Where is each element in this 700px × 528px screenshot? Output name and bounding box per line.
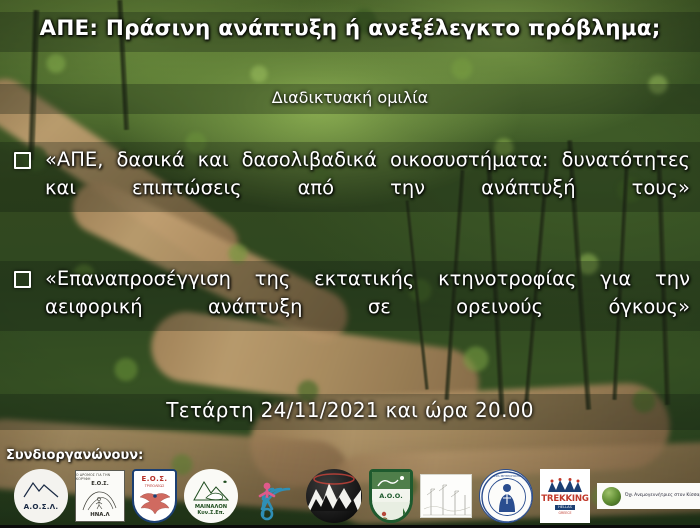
coorganizer-logo-strip: Α.Ο.Σ.Λ. Ο ΔΡΟΜΟΣ ΓΙΑ ΤΗΝ ΚΟΡΥΦΗ Ε.Ο.Σ. … <box>0 466 700 526</box>
poster-subtitle: Διαδικτυακή ομιλία <box>0 88 700 107</box>
coorganizers-label: Συνδιοργανώνουν: <box>6 448 143 463</box>
logo-kissavos-banner: Όχι Ανεμογεννήτριες στον Κίσσαβο <box>597 483 700 509</box>
logo-eos-inal: Ο ΔΡΟΜΟΣ ΓΙΑ ΤΗΝ ΚΟΡΥΦΗ Ε.Ο.Σ. ΗΝΑ.Λ <box>75 470 125 522</box>
event-datetime: Τετάρτη 24/11/2021 και ώρα 20.00 <box>0 398 700 422</box>
logo-trekking-title: TREKKING <box>541 494 589 504</box>
svg-text:ΙΕΡΑ ΜΗΤΡΟΠΟΛΙΣ: ΙΕΡΑ ΜΗΤΡΟΠΟΛΙΣ <box>493 474 521 478</box>
logo-aoo-shield: Α.Ο.Ο. <box>369 469 413 523</box>
logo-trekking: TREKKING HELLAS GREECE <box>540 469 590 523</box>
logo-mainalon: ΜΑΙΝΑΛΟΝ Κυν.Σ.Επ. <box>184 469 238 523</box>
logo-trekking-sub: GREECE <box>559 511 572 515</box>
bullet-item: «ΑΠΕ, δασικά και δασολιβαδικά οικοσυστήμ… <box>8 146 690 229</box>
bullet-item-label: «ΑΠΕ, δασικά και δασολιβαδικά οικοσυστήμ… <box>45 146 690 229</box>
mountain-bird-icon <box>192 478 230 502</box>
logo-arcs <box>245 469 299 523</box>
hollow-square-bullet-icon <box>14 152 31 169</box>
poster-content: ΑΠΕ: Πράσινη ανάπτυξη ή ανεξέλεγκτο πρόβ… <box>0 0 700 528</box>
trekking-crest-icon <box>546 478 584 493</box>
climber-sketch-icon <box>80 488 120 512</box>
page-title: ΑΠΕ: Πράσινη ανάπτυξη ή ανεξέλεγκτο πρόβ… <box>0 16 700 41</box>
line-drawing-icon <box>421 475 472 518</box>
logo-mainalon-sub: Κυν.Σ.Επ. <box>197 510 224 516</box>
logo-sketch-panel <box>420 474 472 518</box>
logo-blue-seal: ΙΕΡΑ ΜΗΤΡΟΠΟΛΙΣ <box>479 469 533 523</box>
logo-aosl: Α.Ο.Σ.Λ. <box>14 469 68 523</box>
logo-eos-shield: Ε.Ο.Σ. ΤΡΙΠΟΛΕΩΣ <box>132 469 177 523</box>
logo-aoo-label: Α.Ο.Ο. <box>379 492 403 500</box>
logo-eos-inal-bottom: ΗΝΑ.Λ <box>90 512 109 518</box>
logo-eos-inal-mid: Ε.Ο.Σ. <box>91 481 108 487</box>
logo-dark-globe <box>306 469 362 523</box>
poster-root: ΑΠΕ: Πράσινη ανάπτυξη ή ανεξέλεγκτο πρόβ… <box>0 0 700 528</box>
logo-trekking-bar: HELLAS <box>555 505 575 510</box>
bullet-item-label: «Επαναπροσέγγιση της εκτατικής κτηνοτροφ… <box>45 265 690 348</box>
green-globe-icon <box>602 487 621 506</box>
logo-aosl-label: Α.Ο.Σ.Λ. <box>24 502 59 511</box>
logo-eos-inal-top: Ο ΔΡΟΜΟΣ ΓΙΑ ΤΗΝ ΚΟΡΥΦΗ <box>76 473 124 481</box>
eagle-icon <box>138 489 172 515</box>
hollow-square-bullet-icon <box>14 271 31 288</box>
logo-kissavos-label: Όχι Ανεμογεννήτριες στον Κίσσαβο <box>625 493 700 498</box>
radio-arcs-figure-icon <box>245 469 299 523</box>
mountain-icon <box>23 480 59 498</box>
logo-eos-shield-title: Ε.Ο.Σ. <box>142 475 168 483</box>
mountain-peaks-globe-icon <box>306 469 362 523</box>
orthodox-seal-icon: ΙΕΡΑ ΜΗΤΡΟΠΟΛΙΣ <box>480 470 533 523</box>
logo-eos-shield-sub: ΤΡΙΠΟΛΕΩΣ <box>145 484 165 488</box>
bullet-item: «Επαναπροσέγγιση της εκτατικής κτηνοτροφ… <box>8 265 690 348</box>
